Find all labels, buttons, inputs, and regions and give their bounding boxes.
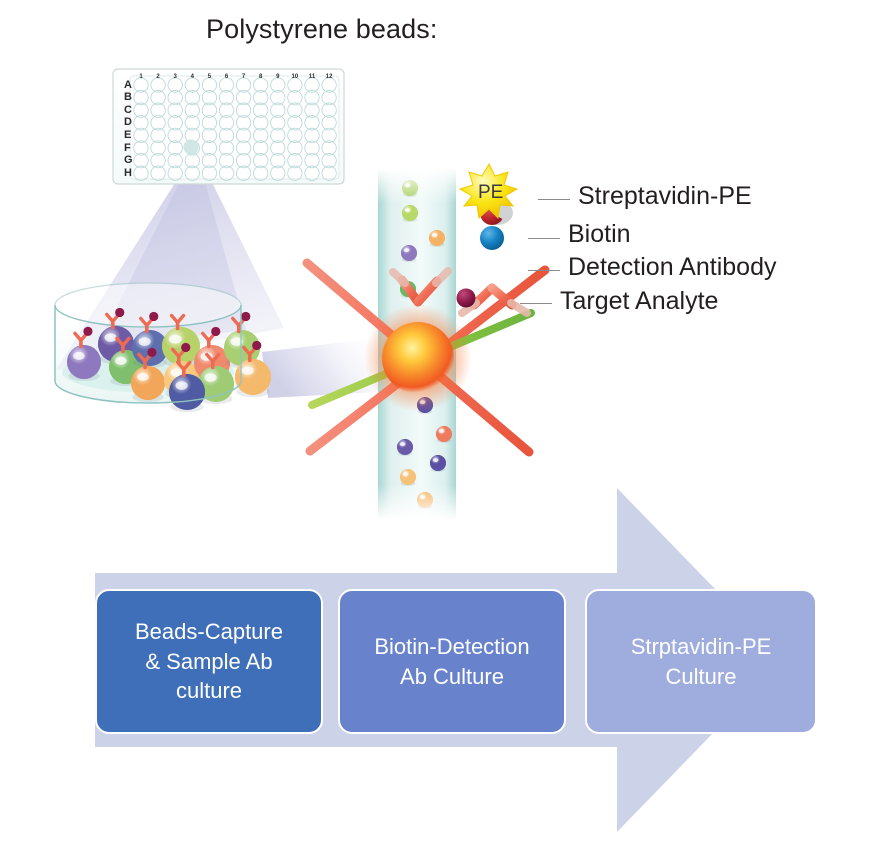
process-step-beads-capture[interactable]: Beads-Capture & Sample Ab culture [95, 589, 323, 734]
plate-col-label-8: 8 [256, 74, 266, 80]
legend-leader-target-analyte [520, 303, 552, 304]
plate-row-label-e: E [124, 130, 131, 141]
target-analyte-icon [149, 312, 158, 321]
legend-leader-streptavidin-pe [538, 199, 570, 200]
plate-col-label-2: 2 [153, 74, 163, 80]
legend-label-target-analyte: Target Analyte [560, 289, 718, 314]
bead [67, 345, 101, 381]
biotin-icon [480, 226, 504, 250]
plate-row-label-c: C [124, 105, 132, 116]
legend-leader-detection-antibody [528, 270, 560, 271]
target-analyte-icon [457, 289, 476, 308]
plate-col-label-9: 9 [273, 74, 283, 80]
target-analyte-icon [252, 341, 261, 350]
legend-label-detection-antibody: Detection Antibody [568, 255, 776, 280]
plate-col-label-12: 12 [324, 74, 334, 80]
page-title: Polystyrene beads: [206, 14, 437, 45]
legend-leader-biotin [528, 238, 560, 239]
plate-col-label-4: 4 [187, 74, 197, 80]
target-analyte-icon [83, 327, 92, 336]
bead [169, 374, 205, 412]
plate-row-label-a: A [124, 80, 132, 91]
process-step-biotin-detection[interactable]: Biotin-Detection Ab Culture [338, 589, 566, 734]
plate-col-label-3: 3 [170, 74, 180, 80]
process-step-streptavidin-pe[interactable]: Strptavidin-PE Culture [585, 589, 817, 734]
plate-row-label-d: D [124, 117, 132, 128]
target-analyte-icon [147, 348, 156, 357]
plate-col-label-7: 7 [239, 74, 249, 80]
plate-row-label-f: F [124, 143, 131, 154]
plate-col-label-1: 1 [136, 74, 146, 80]
plate-row-label-b: B [124, 92, 132, 103]
target-analyte-icon [241, 312, 250, 321]
plate-col-label-10: 10 [290, 74, 300, 80]
legend-label-biotin: Biotin [568, 222, 631, 247]
petri-dish-body [55, 283, 271, 412]
target-analyte-icon [115, 308, 124, 317]
plate-col-label-6: 6 [222, 74, 232, 80]
bead [131, 366, 165, 402]
microplate-body [113, 69, 344, 184]
diagram-canvas: Polystyrene beads: ABCDEFGH1234567891011… [0, 0, 884, 860]
plate-row-label-h: H [124, 168, 132, 179]
magnification-cone-dish-to-tube [262, 338, 378, 398]
plate-col-label-5: 5 [204, 74, 214, 80]
plate-col-label-11: 11 [307, 74, 317, 80]
target-analyte-icon [211, 327, 220, 336]
legend-label-streptavidin-pe: Streptavidin-PE [578, 184, 752, 209]
pe-badge-label: PE [478, 182, 503, 204]
target-analyte-icon [181, 343, 190, 352]
plate-row-label-g: G [124, 155, 133, 166]
